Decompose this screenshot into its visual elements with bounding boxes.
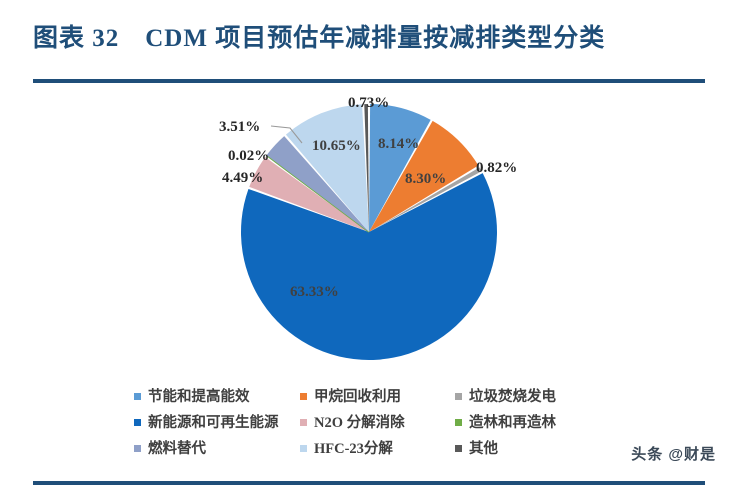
slice-label-n2o-decomposition: 4.49% [222, 170, 263, 187]
leader-line-fuel-substitution [0, 88, 738, 378]
legend-item-waste-incineration[interactable]: 垃圾焚烧发电 [455, 382, 605, 408]
figure-root: 图表 32 CDM 项目预估年减排量按减排类型分类 0.73% 8.14% 8.… [0, 0, 738, 491]
slice-label-other: 0.73% [348, 95, 389, 112]
legend-label: 节能和提高能效 [148, 385, 250, 406]
legend-swatch-icon [134, 419, 141, 426]
title-underline-rule [33, 79, 705, 83]
legend-item-energy-efficiency[interactable]: 节能和提高能效 [134, 382, 300, 408]
legend-item-hfc23-decomposition[interactable]: HFC-23分解 [300, 434, 455, 460]
slice-label-waste-incineration: 0.82% [476, 160, 517, 177]
legend-swatch-icon [300, 393, 307, 400]
figure-title-block: 图表 32 CDM 项目预估年减排量按减排类型分类 [0, 18, 738, 66]
pie-chart-area: 0.73% 8.14% 8.30% 0.82% 63.33% 4.49% 0.0… [0, 88, 738, 378]
legend-item-afforestation[interactable]: 造林和再造林 [455, 408, 605, 434]
legend-swatch-icon [455, 419, 462, 426]
slice-label-fuel-substitution: 3.51% [219, 119, 260, 136]
legend-swatch-icon [134, 393, 141, 400]
chart-legend: 节能和提高能效 甲烷回收利用 垃圾焚烧发电 新能源和可再生能源 N2O 分解消除… [134, 382, 604, 460]
legend-item-fuel-substitution[interactable]: 燃料替代 [134, 434, 300, 460]
legend-label: N2O 分解消除 [314, 411, 405, 432]
legend-item-renewable-energy[interactable]: 新能源和可再生能源 [134, 408, 300, 434]
watermark: 头条 @财是 [631, 443, 716, 464]
slice-label-methane-recovery: 8.30% [405, 171, 446, 188]
legend-label: 造林和再造林 [469, 411, 556, 432]
slice-label-energy-efficiency: 8.14% [378, 136, 419, 153]
slice-label-hfc23-decomposition: 10.65% [312, 138, 361, 155]
legend-label: 垃圾焚烧发电 [469, 385, 556, 406]
legend-swatch-icon [134, 445, 141, 452]
legend-swatch-icon [455, 393, 462, 400]
legend-label: 甲烷回收利用 [314, 385, 401, 406]
slice-label-renewable-energy: 63.33% [290, 284, 339, 301]
legend-label: 新能源和可再生能源 [148, 411, 279, 432]
legend-swatch-icon [300, 445, 307, 452]
page-title: 图表 32 CDM 项目预估年减排量按减排类型分类 [33, 18, 713, 54]
legend-item-n2o-decomposition[interactable]: N2O 分解消除 [300, 408, 455, 434]
legend-label: 燃料替代 [148, 437, 206, 458]
legend-label: 其他 [469, 437, 498, 458]
legend-item-methane-recovery[interactable]: 甲烷回收利用 [300, 382, 455, 408]
legend-swatch-icon [300, 419, 307, 426]
legend-label: HFC-23分解 [314, 437, 393, 458]
legend-swatch-icon [455, 445, 462, 452]
legend-item-other[interactable]: 其他 [455, 434, 605, 460]
bottom-rule [33, 481, 705, 485]
slice-label-afforestation: 0.02% [228, 148, 269, 165]
